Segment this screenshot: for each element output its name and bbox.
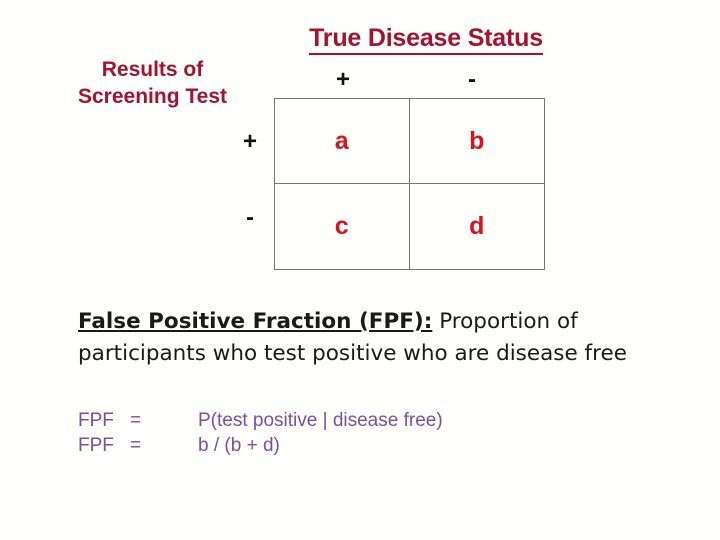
column-header-negative: - [452, 66, 492, 94]
cell-false-negative: c [275, 184, 410, 269]
formula-row: FPF = b / (b + d) [78, 433, 443, 458]
contingency-table: a b c d [274, 98, 545, 270]
cell-true-positive: a [275, 99, 410, 184]
formula-equals: = [130, 408, 198, 433]
formula-lhs: FPF [78, 408, 130, 433]
formula-rhs: P(test positive | disease free) [198, 408, 443, 433]
row-group-label-line2: Screening Test [40, 83, 265, 110]
row-group-label-line1: Results of [40, 56, 265, 83]
formula-row: FPF = P(test positive | disease free) [78, 408, 443, 433]
page-title-text: True Disease Status [309, 24, 543, 55]
formula-lhs: FPF [78, 433, 130, 458]
definition-paragraph: False Positive Fraction (FPF): Proportio… [78, 306, 658, 370]
formula-equals: = [130, 433, 198, 458]
formula-block: FPF = P(test positive | disease free) FP… [78, 408, 443, 458]
cell-false-positive: b [410, 99, 545, 184]
row-header-negative: - [232, 204, 268, 232]
definition-term: False Positive Fraction (FPF): [78, 309, 432, 334]
column-header-positive: + [323, 66, 363, 94]
page-title: True Disease Status [286, 24, 566, 53]
row-group-label: Results of Screening Test [40, 56, 265, 110]
formula-rhs: b / (b + d) [198, 433, 280, 458]
slide-canvas: True Disease Status Results of Screening… [0, 0, 720, 540]
row-header-positive: + [232, 128, 268, 156]
cell-true-negative: d [410, 184, 545, 269]
